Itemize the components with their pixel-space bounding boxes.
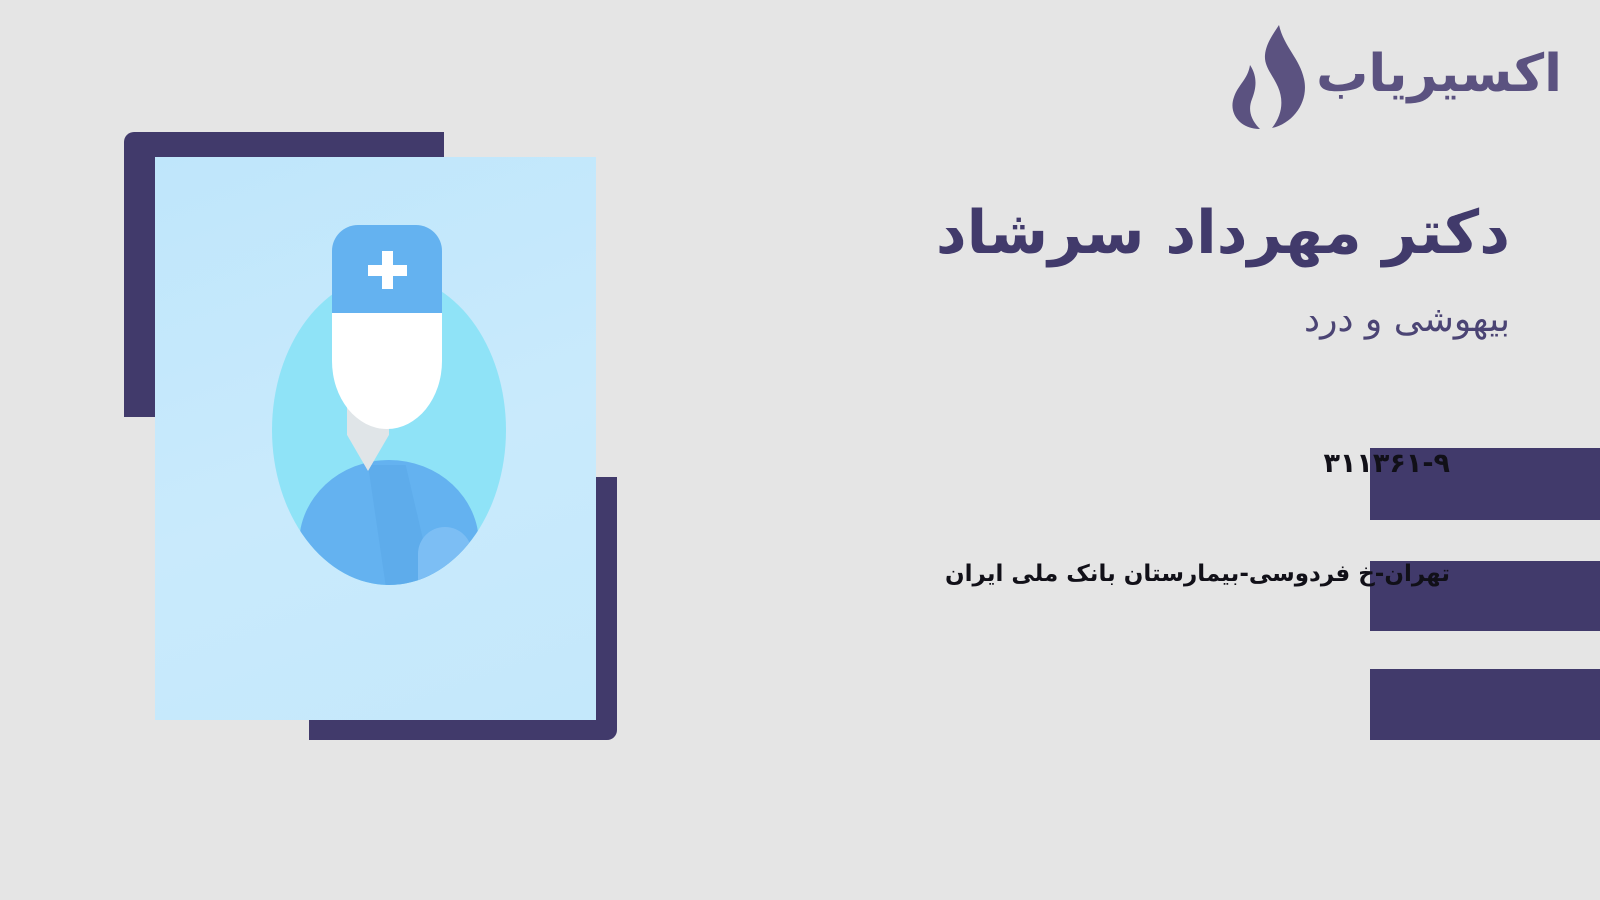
doctor-info-panel: دکتر مهرداد سرشاد بیهوشی و درد ۳۱۱۳۶۱-۹ … bbox=[830, 196, 1510, 344]
flame-drop-logo-icon bbox=[1224, 23, 1310, 131]
doctor-illustration bbox=[124, 132, 624, 746]
doctor-address[interactable]: تهران-خ فردوسی-بیمارستان بانک ملی ایران bbox=[945, 561, 1450, 587]
avatar bbox=[246, 217, 546, 637]
avatar-medical-cap bbox=[332, 225, 442, 313]
doctor-name: دکتر مهرداد سرشاد bbox=[830, 196, 1510, 271]
brand-logo[interactable]: اکسیریاب bbox=[1224, 22, 1562, 132]
brand-wordmark: اکسیریاب bbox=[1316, 48, 1562, 106]
illustration-card bbox=[155, 157, 596, 720]
doctor-specialty: بیهوشی و درد bbox=[830, 297, 1510, 344]
avatar-arm bbox=[418, 527, 472, 585]
medical-cross-icon-bar bbox=[368, 265, 407, 276]
profile-card-canvas: اکسیریاب bbox=[0, 0, 1600, 900]
doctor-phone[interactable]: ۳۱۱۳۶۱-۹ bbox=[1323, 448, 1450, 479]
decor-bar-lower bbox=[1370, 669, 1600, 740]
